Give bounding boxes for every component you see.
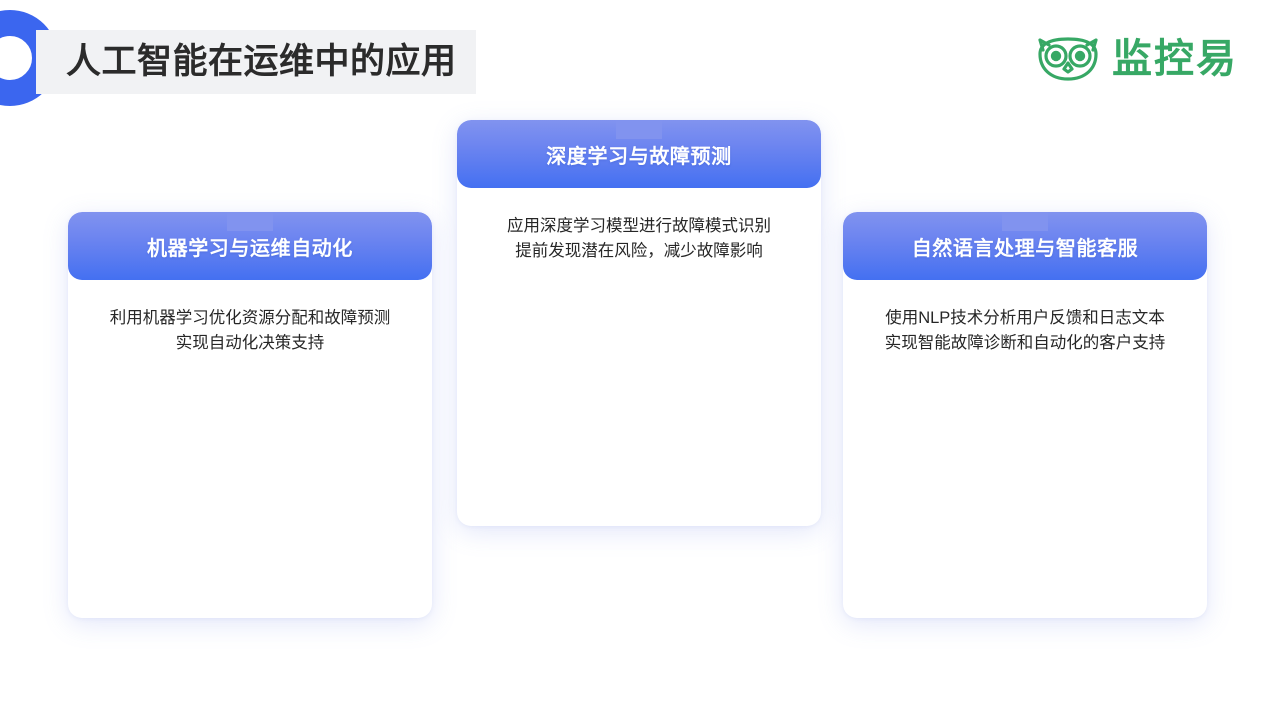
card-shell: 深度学习与故障预测 应用深度学习模型进行故障模式识别 提前发现潜在风险，减少故障… — [457, 120, 821, 526]
slide-header: 人工智能在运维中的应用 监控易 — [0, 0, 1280, 120]
card-shell: 机器学习与运维自动化 利用机器学习优化资源分配和故障预测 实现自动化决策支持 — [68, 212, 432, 618]
card-tab-notch — [1002, 212, 1048, 231]
card-body: 利用机器学习优化资源分配和故障预测 实现自动化决策支持 — [68, 280, 432, 356]
card-header: 机器学习与运维自动化 — [68, 212, 432, 280]
owl-icon — [1036, 36, 1100, 82]
feature-card[interactable]: 深度学习与故障预测 应用深度学习模型进行故障模式识别 提前发现潜在风险，减少故障… — [457, 120, 821, 526]
card-body: 使用NLP技术分析用户反馈和日志文本 实现智能故障诊断和自动化的客户支持 — [843, 280, 1207, 356]
card-title: 深度学习与故障预测 — [546, 140, 731, 169]
card-shell: 自然语言处理与智能客服 使用NLP技术分析用户反馈和日志文本 实现智能故障诊断和… — [843, 212, 1207, 618]
card-header: 自然语言处理与智能客服 — [843, 212, 1207, 280]
card-title: 机器学习与运维自动化 — [147, 232, 353, 261]
card-description-line: 实现自动化决策支持 — [84, 331, 416, 356]
card-header: 深度学习与故障预测 — [457, 120, 821, 188]
card-description-line: 使用NLP技术分析用户反馈和日志文本 — [859, 306, 1191, 331]
card-description-line: 实现智能故障诊断和自动化的客户支持 — [859, 331, 1191, 356]
feature-card[interactable]: 自然语言处理与智能客服 使用NLP技术分析用户反馈和日志文本 实现智能故障诊断和… — [843, 212, 1207, 618]
brand-logo: 监控易 — [1036, 36, 1238, 82]
card-description-line: 提前发现潜在风险，减少故障影响 — [473, 239, 805, 264]
card-tab-notch — [227, 212, 273, 231]
page-title: 人工智能在运维中的应用 — [66, 30, 457, 94]
feature-card[interactable]: 机器学习与运维自动化 利用机器学习优化资源分配和故障预测 实现自动化决策支持 — [68, 212, 432, 618]
card-description-line: 应用深度学习模型进行故障模式识别 — [473, 214, 805, 239]
card-title: 自然语言处理与智能客服 — [912, 232, 1139, 261]
card-body: 应用深度学习模型进行故障模式识别 提前发现潜在风险，减少故障影响 — [457, 188, 821, 264]
brand-name: 监控易 — [1112, 39, 1238, 79]
card-tab-notch — [616, 120, 662, 139]
card-description-line: 利用机器学习优化资源分配和故障预测 — [84, 306, 416, 331]
